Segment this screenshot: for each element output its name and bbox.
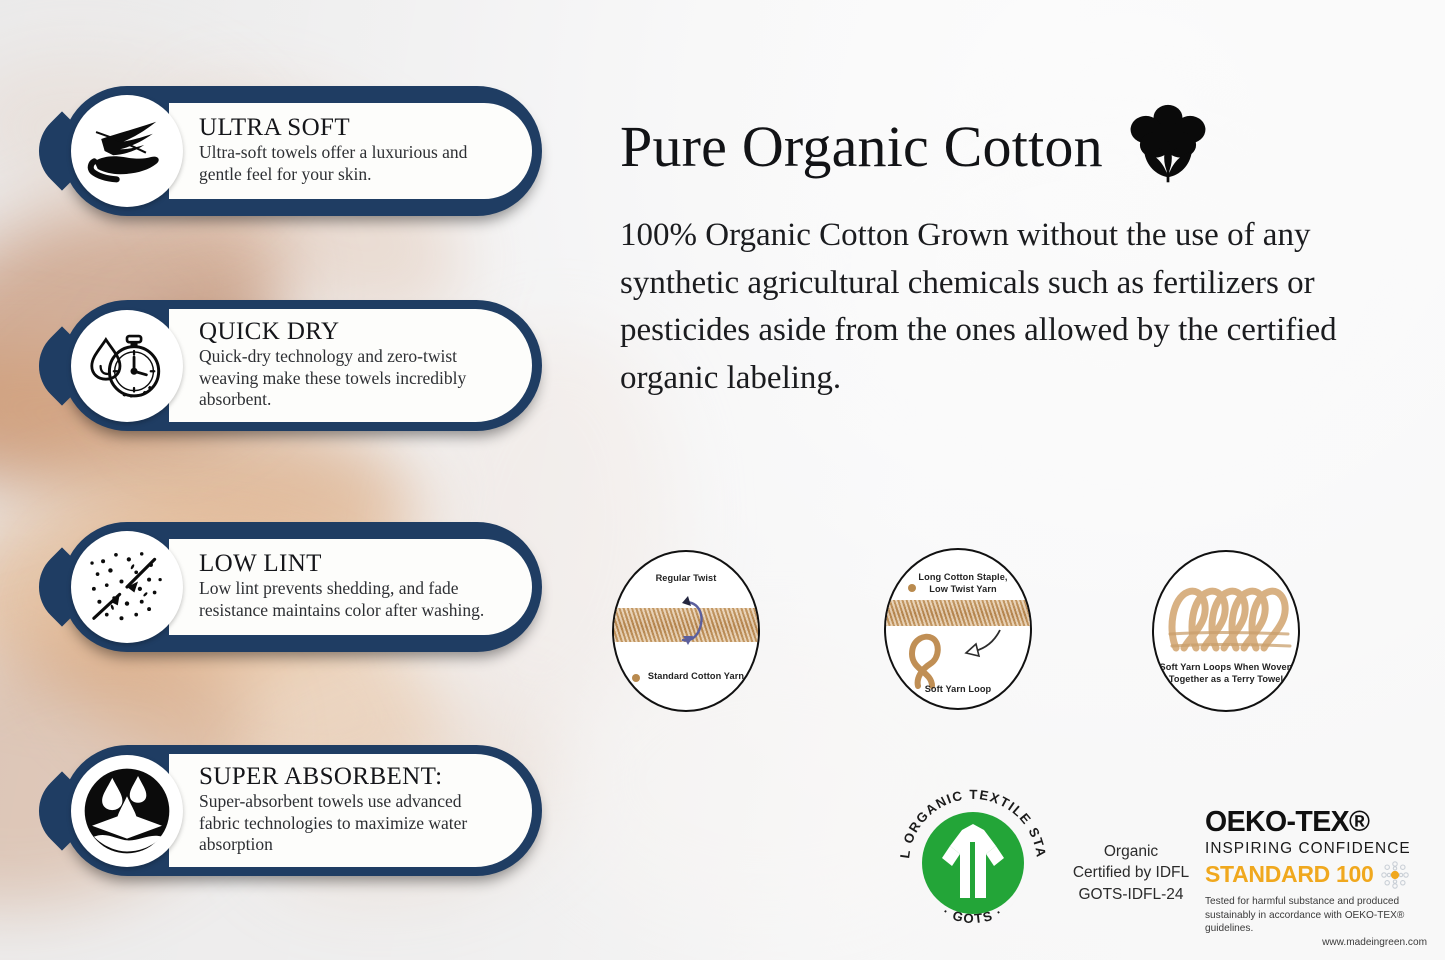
yarn-label-bottom: Soft Yarn Loop	[886, 684, 1030, 696]
gots-green-disc	[922, 812, 1024, 914]
feature-description: Quick-dry technology and zero-twist weav…	[199, 346, 506, 411]
yarn-strand	[884, 600, 1032, 626]
feature-pill-quick-dry: QUICK DRY Quick-dry technology and zero-…	[62, 300, 542, 431]
pill-text-body: SUPER ABSORBENT: Super-absorbent towels …	[169, 754, 532, 867]
feature-title: QUICK DRY	[199, 318, 506, 345]
feature-title: ULTRA SOFT	[199, 114, 506, 141]
oeko-tex-title: OEKO-TEX®	[1205, 808, 1427, 837]
gots-certification-logo: GLOBAL ORGANIC TEXTILE STANDARD · GOTS ·	[893, 783, 1053, 943]
pill-shape: LOW LINT Low lint prevents shedding, and…	[62, 522, 542, 652]
yarn-dot-marker	[908, 584, 916, 592]
feature-title: SUPER ABSORBENT:	[199, 763, 506, 790]
yarn-diagram-low-twist: Long Cotton Staple, Low Twist Yarn Soft …	[884, 548, 1032, 710]
lint-particles-arrows-icon	[71, 531, 183, 643]
oeko-tex-certification: OEKO-TEX® INSPIRING CONFIDENCE STANDARD …	[1205, 808, 1427, 949]
cotton-boll-icon	[1125, 104, 1211, 189]
feature-description: Low lint prevents shedding, and fade res…	[199, 578, 506, 621]
oeko-tex-website: www.madeingreen.com	[1322, 936, 1427, 950]
feature-pill-super-absorbent: SUPER ABSORBENT: Super-absorbent towels …	[62, 745, 542, 876]
page-title: Pure Organic Cotton	[620, 118, 1103, 176]
idfl-line-2: Certified by IDFL	[1061, 862, 1201, 883]
yarn-diagram-regular-twist: Regular Twist Standard Cotton Yarn	[612, 550, 760, 712]
curved-pointer-icon	[960, 626, 1004, 660]
water-absorption-fabric-icon	[71, 755, 183, 867]
oeko-tex-fine-print-text: Tested for harmful substance and produce…	[1205, 895, 1427, 936]
headline: Pure Organic Cotton	[620, 104, 1211, 189]
oeko-tex-fine-print: Tested for harmful substance and produce…	[1205, 895, 1427, 949]
droplet-stopwatch-icon	[71, 310, 183, 422]
feature-pill-ultra-soft: ULTRA SOFT Ultra-soft towels offer a lux…	[62, 86, 542, 216]
oeko-tex-standard: STANDARD 100	[1205, 863, 1374, 886]
idfl-certification-text: Organic Certified by IDFL GOTS-IDFL-24	[1061, 841, 1201, 905]
pill-shape: ULTRA SOFT Ultra-soft towels offer a lux…	[62, 86, 542, 216]
feature-pill-low-lint: LOW LINT Low lint prevents shedding, and…	[62, 522, 542, 652]
soft-yarn-loop-icon	[902, 628, 958, 690]
pill-text-body: QUICK DRY Quick-dry technology and zero-…	[169, 309, 532, 422]
pill-text-body: ULTRA SOFT Ultra-soft towels offer a lux…	[169, 103, 532, 199]
pill-text-body: LOW LINT Low lint prevents shedding, and…	[169, 539, 532, 635]
description-paragraph: 100% Organic Cotton Grown without the us…	[620, 212, 1420, 402]
yarn-label-top: Long Cotton Staple, Low Twist Yarn	[886, 572, 1030, 596]
terry-loop-weave-icon	[1162, 576, 1294, 654]
yarn-diagram-terry-loops: Soft Yarn Loops When Woven Together as a…	[1152, 550, 1300, 712]
sunburst-icon	[1380, 860, 1410, 890]
yarn-diagrams: Regular Twist Standard Cotton Yarn Long …	[612, 548, 1332, 718]
feature-description: Ultra-soft towels offer a luxurious and …	[199, 142, 506, 185]
idfl-line-1: Organic	[1061, 841, 1201, 862]
idfl-line-3: GOTS-IDFL-24	[1061, 884, 1201, 905]
feature-title: LOW LINT	[199, 550, 506, 577]
certifications: GLOBAL ORGANIC TEXTILE STANDARD · GOTS ·…	[893, 783, 1433, 953]
pill-shape: QUICK DRY Quick-dry technology and zero-…	[62, 300, 542, 431]
pill-shape: SUPER ABSORBENT: Super-absorbent towels …	[62, 745, 542, 876]
feature-description: Super-absorbent towels use advanced fabr…	[199, 791, 506, 856]
hand-feather-icon	[71, 95, 183, 207]
gots-tshirt-icon	[922, 812, 1024, 914]
oeko-tex-subtitle: INSPIRING CONFIDENCE	[1205, 840, 1427, 858]
yarn-label-top: Regular Twist	[614, 573, 758, 585]
twist-arrow-icon	[674, 590, 708, 652]
yarn-label-bottom: Soft Yarn Loops When Woven Together as a…	[1154, 662, 1298, 686]
yarn-label-bottom: Standard Cotton Yarn	[614, 671, 758, 683]
